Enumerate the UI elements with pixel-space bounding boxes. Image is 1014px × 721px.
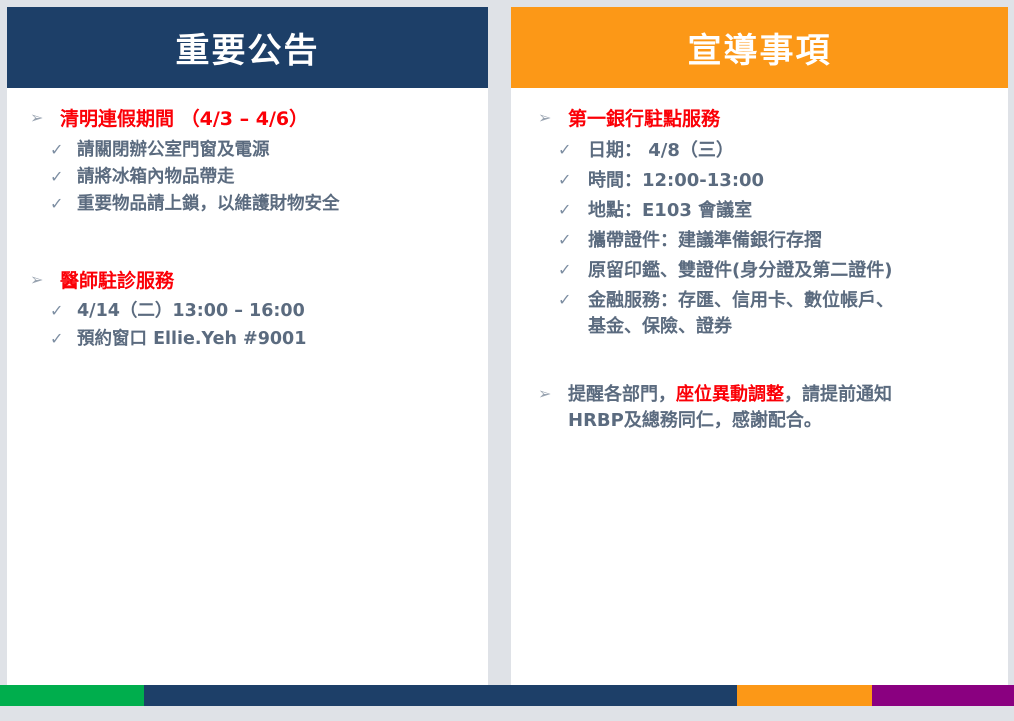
note-line2: HRBP及總務同仁，感謝配合。 [568, 408, 892, 434]
panel-body-announcements: ➢ 第一銀行駐點服務 ✓ 日期： 4/8（三） ✓ 時間：12:00-13:00… [511, 88, 1008, 700]
panel-body-important-notice: ➢ 清明連假期間 （4/3 – 4/6） ✓ 請關閉辦公室門窗及電源 ✓ 請將冰… [7, 88, 488, 700]
list-item-text: 時間：12:00-13:00 [588, 168, 764, 194]
list-item-text: 請將冰箱內物品帶走 [77, 165, 235, 190]
panel-title-announcements: 宣導事項 [688, 23, 832, 72]
list-item-text: 預約窗口 Ellie.Yeh #9001 [77, 327, 306, 352]
group-heading-text: 第一銀行駐點服務 [568, 106, 720, 134]
check-bullet-icon: ✓ [558, 288, 588, 312]
check-bullet-icon: ✓ [558, 168, 588, 192]
list-item: ✓ 地點：E103 會議室 [525, 198, 994, 224]
note-seat-change: ➢ 提醒各部門，座位異動調整，請提前通知 HRBP及總務同仁，感謝配合。 [525, 382, 994, 434]
arrow-bullet-icon: ➢ [538, 382, 568, 406]
slide: 重要公告 ➢ 清明連假期間 （4/3 – 4/6） ✓ 請關閉辦公室門窗及電源 … [0, 0, 1014, 721]
check-bullet-icon: ✓ [50, 138, 77, 162]
green-segment [0, 685, 144, 706]
group-spacer [21, 220, 474, 268]
list-item: ✓ 4/14（二）13:00 – 16:00 [21, 299, 474, 324]
list-item-text: 請關閉辦公室門窗及電源 [77, 138, 270, 163]
list-item: ✓ 金融服務：存匯、信用卡、數位帳戶、 基金、保險、證券 [525, 288, 994, 340]
list-item-line1: 金融服務：存匯、信用卡、數位帳戶、 [588, 288, 894, 314]
panel-title-important-notice: 重要公告 [176, 23, 320, 72]
list-item-text: 金融服務：存匯、信用卡、數位帳戶、 基金、保險、證券 [588, 288, 894, 340]
check-bullet-icon: ✓ [50, 299, 77, 323]
list-item-line2: 基金、保險、證券 [588, 314, 894, 340]
list-item-text: 日期： 4/8（三） [588, 138, 734, 164]
group-doctor-service: ➢ 醫師駐診服務 ✓ 4/14（二）13:00 – 16:00 ✓ 預約窗口 E… [21, 268, 474, 352]
list-item-text: 地點：E103 會議室 [588, 198, 752, 224]
orange-segment [737, 685, 872, 706]
list-item: ✓ 請將冰箱內物品帶走 [21, 165, 474, 190]
note-suffix: ，請提前通知 [784, 384, 892, 405]
check-bullet-icon: ✓ [558, 228, 588, 252]
check-bullet-icon: ✓ [50, 327, 77, 351]
note-emphasis: 座位異動調整 [676, 384, 784, 405]
list-item-text: 攜帶證件：建議準備銀行存摺 [588, 228, 822, 254]
arrow-bullet-icon: ➢ [30, 268, 60, 292]
list-item: ✓ 日期： 4/8（三） [525, 138, 994, 164]
list-item: ✓ 攜帶證件：建議準備銀行存摺 [525, 228, 994, 254]
list-item: ✓ 請關閉辦公室門窗及電源 [21, 138, 474, 163]
group-heading-doctor-service: ➢ 醫師駐診服務 [21, 268, 474, 296]
list-item-text: 4/14（二）13:00 – 16:00 [77, 299, 305, 324]
panel-important-notice: 重要公告 ➢ 清明連假期間 （4/3 – 4/6） ✓ 請關閉辦公室門窗及電源 … [7, 7, 488, 700]
group-heading-holiday: ➢ 清明連假期間 （4/3 – 4/6） [21, 106, 474, 134]
check-bullet-icon: ✓ [50, 165, 77, 189]
list-item: ✓ 原留印鑑、雙證件(身分證及第二證件) [525, 258, 994, 284]
group-heading-text: 清明連假期間 （4/3 – 4/6） [60, 106, 308, 134]
check-bullet-icon: ✓ [558, 258, 588, 282]
note-spacer [525, 344, 994, 382]
group-heading-text: 醫師駐診服務 [60, 268, 174, 296]
group-bank-service: ➢ 第一銀行駐點服務 ✓ 日期： 4/8（三） ✓ 時間：12:00-13:00… [525, 106, 994, 340]
list-item: ✓ 重要物品請上鎖，以維護財物安全 [21, 192, 474, 217]
panel-announcements: 宣導事項 ➢ 第一銀行駐點服務 ✓ 日期： 4/8（三） ✓ 時間：12:00-… [511, 7, 1008, 700]
panel-header-important-notice: 重要公告 [7, 7, 488, 88]
navy-segment [144, 685, 737, 706]
check-bullet-icon: ✓ [558, 138, 588, 162]
list-item: ✓ 預約窗口 Ellie.Yeh #9001 [21, 327, 474, 352]
group-heading-bank-service: ➢ 第一銀行駐點服務 [525, 106, 994, 134]
note-text: 提醒各部門，座位異動調整，請提前通知 HRBP及總務同仁，感謝配合。 [568, 382, 892, 434]
panel-header-announcements: 宣導事項 [511, 7, 1008, 88]
purple-segment [872, 685, 1014, 706]
list-item-text: 重要物品請上鎖，以維護財物安全 [77, 192, 340, 217]
check-bullet-icon: ✓ [50, 192, 77, 216]
arrow-bullet-icon: ➢ [30, 106, 60, 130]
check-bullet-icon: ✓ [558, 198, 588, 222]
note-line1: 提醒各部門，座位異動調整，請提前通知 [568, 382, 892, 408]
list-item-text: 原留印鑑、雙證件(身分證及第二證件) [588, 258, 892, 284]
bottom-color-bar [0, 685, 1014, 706]
group-holiday: ➢ 清明連假期間 （4/3 – 4/6） ✓ 請關閉辦公室門窗及電源 ✓ 請將冰… [21, 106, 474, 218]
note-prefix: 提醒各部門， [568, 384, 676, 405]
list-item: ✓ 時間：12:00-13:00 [525, 168, 994, 194]
arrow-bullet-icon: ➢ [538, 106, 568, 130]
